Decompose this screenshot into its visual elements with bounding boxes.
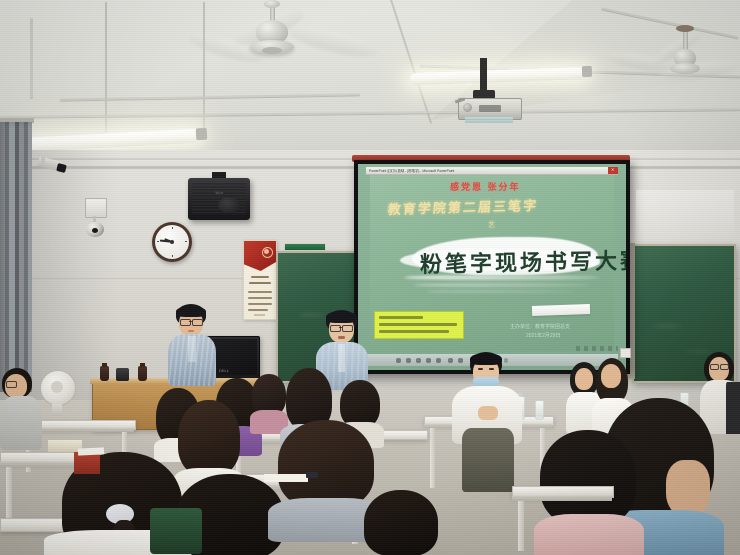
powerpoint-window-title: PowerPoint 幻灯片放映 - [粉笔字] - Microsoft Pow… <box>369 168 569 173</box>
exit-sign <box>284 243 326 251</box>
student-desk-edge <box>512 496 612 501</box>
poster-row <box>248 309 268 311</box>
slide-white-card <box>532 304 590 316</box>
wall-speaker-icon: Wor <box>188 172 254 224</box>
slide-footer-org: 主办单位：教育学院团总支 <box>510 323 570 330</box>
glasses <box>720 364 729 370</box>
audience-member-foreground <box>364 490 438 555</box>
powerpoint-view-controls[interactable] <box>576 346 618 351</box>
window-curtain <box>0 122 32 392</box>
poster-row <box>248 297 272 299</box>
slide-footer-date: 2021年2月29日 <box>526 332 560 339</box>
notice-line-1 <box>379 316 423 319</box>
notice-line-3 <box>379 330 449 333</box>
projection-screen: PowerPoint 幻灯片放映 - [粉笔字] - Microsoft Pow… <box>354 160 630 374</box>
desk-leg <box>518 501 524 551</box>
glasses <box>710 364 719 370</box>
poster-row <box>248 291 272 293</box>
notice-line-2 <box>379 323 457 326</box>
slide-canvas: 感党恩 张分年 教育学院第二届三笔字 艺 粉笔字现场书写大赛 主办单位：教育学院… <box>370 175 614 351</box>
dome-camera-lens <box>92 228 98 233</box>
glasses <box>6 381 17 388</box>
poster-heading <box>251 276 269 278</box>
thermos-bottle <box>138 366 147 381</box>
presenter-at-computer <box>168 304 216 384</box>
power-outlet <box>620 348 631 358</box>
glasses <box>342 325 353 332</box>
projector <box>455 58 535 128</box>
poster-row <box>248 303 272 305</box>
security-camera-icon <box>38 157 74 181</box>
tube-light-left <box>20 0 220 150</box>
green-bag <box>150 508 202 554</box>
student-desk <box>380 430 428 440</box>
thermos-bottle <box>100 366 109 381</box>
slide-accent-mark: 艺 <box>488 220 495 230</box>
brush-stroke-tail <box>426 290 576 293</box>
notebook <box>264 474 308 482</box>
phone <box>306 472 318 478</box>
close-label: ✕ <box>611 167 614 172</box>
hands <box>478 406 498 420</box>
class-schedule-poster <box>243 240 277 320</box>
seated-student-with-mask <box>452 352 522 492</box>
powerpoint-titlebar[interactable]: PowerPoint 幻灯片放映 - [粉笔字] - Microsoft Pow… <box>366 167 618 175</box>
notebook <box>78 447 104 455</box>
thermos-bottle <box>116 368 129 381</box>
windows-activation-notice <box>374 311 464 339</box>
wall-glare <box>636 190 734 240</box>
slide-headline: 教育学院第二届三笔字 <box>387 195 539 218</box>
audience-member <box>0 368 42 448</box>
desk-fan-hub <box>51 381 63 393</box>
junction-box-icon <box>85 198 107 218</box>
wall-clock <box>152 222 192 262</box>
brush-stroke-tail <box>414 283 590 287</box>
poster-subheading <box>249 282 271 284</box>
water-bottle <box>535 400 544 420</box>
close-icon[interactable]: ✕ <box>608 167 618 174</box>
thermos-cap <box>140 363 145 367</box>
glasses <box>192 319 203 326</box>
ceiling-fan-right <box>600 25 740 95</box>
slide-banner-text: 感党恩 张分年 <box>450 180 521 193</box>
table-leg <box>430 428 435 488</box>
classroom-photo: Wor <box>0 0 740 555</box>
desk-fan-stand <box>52 404 62 416</box>
thermos-cap <box>102 363 107 367</box>
papers-stack <box>48 440 82 452</box>
trousers <box>462 428 514 492</box>
slide-main-title: 粉笔字现场书写大赛 <box>420 243 626 279</box>
